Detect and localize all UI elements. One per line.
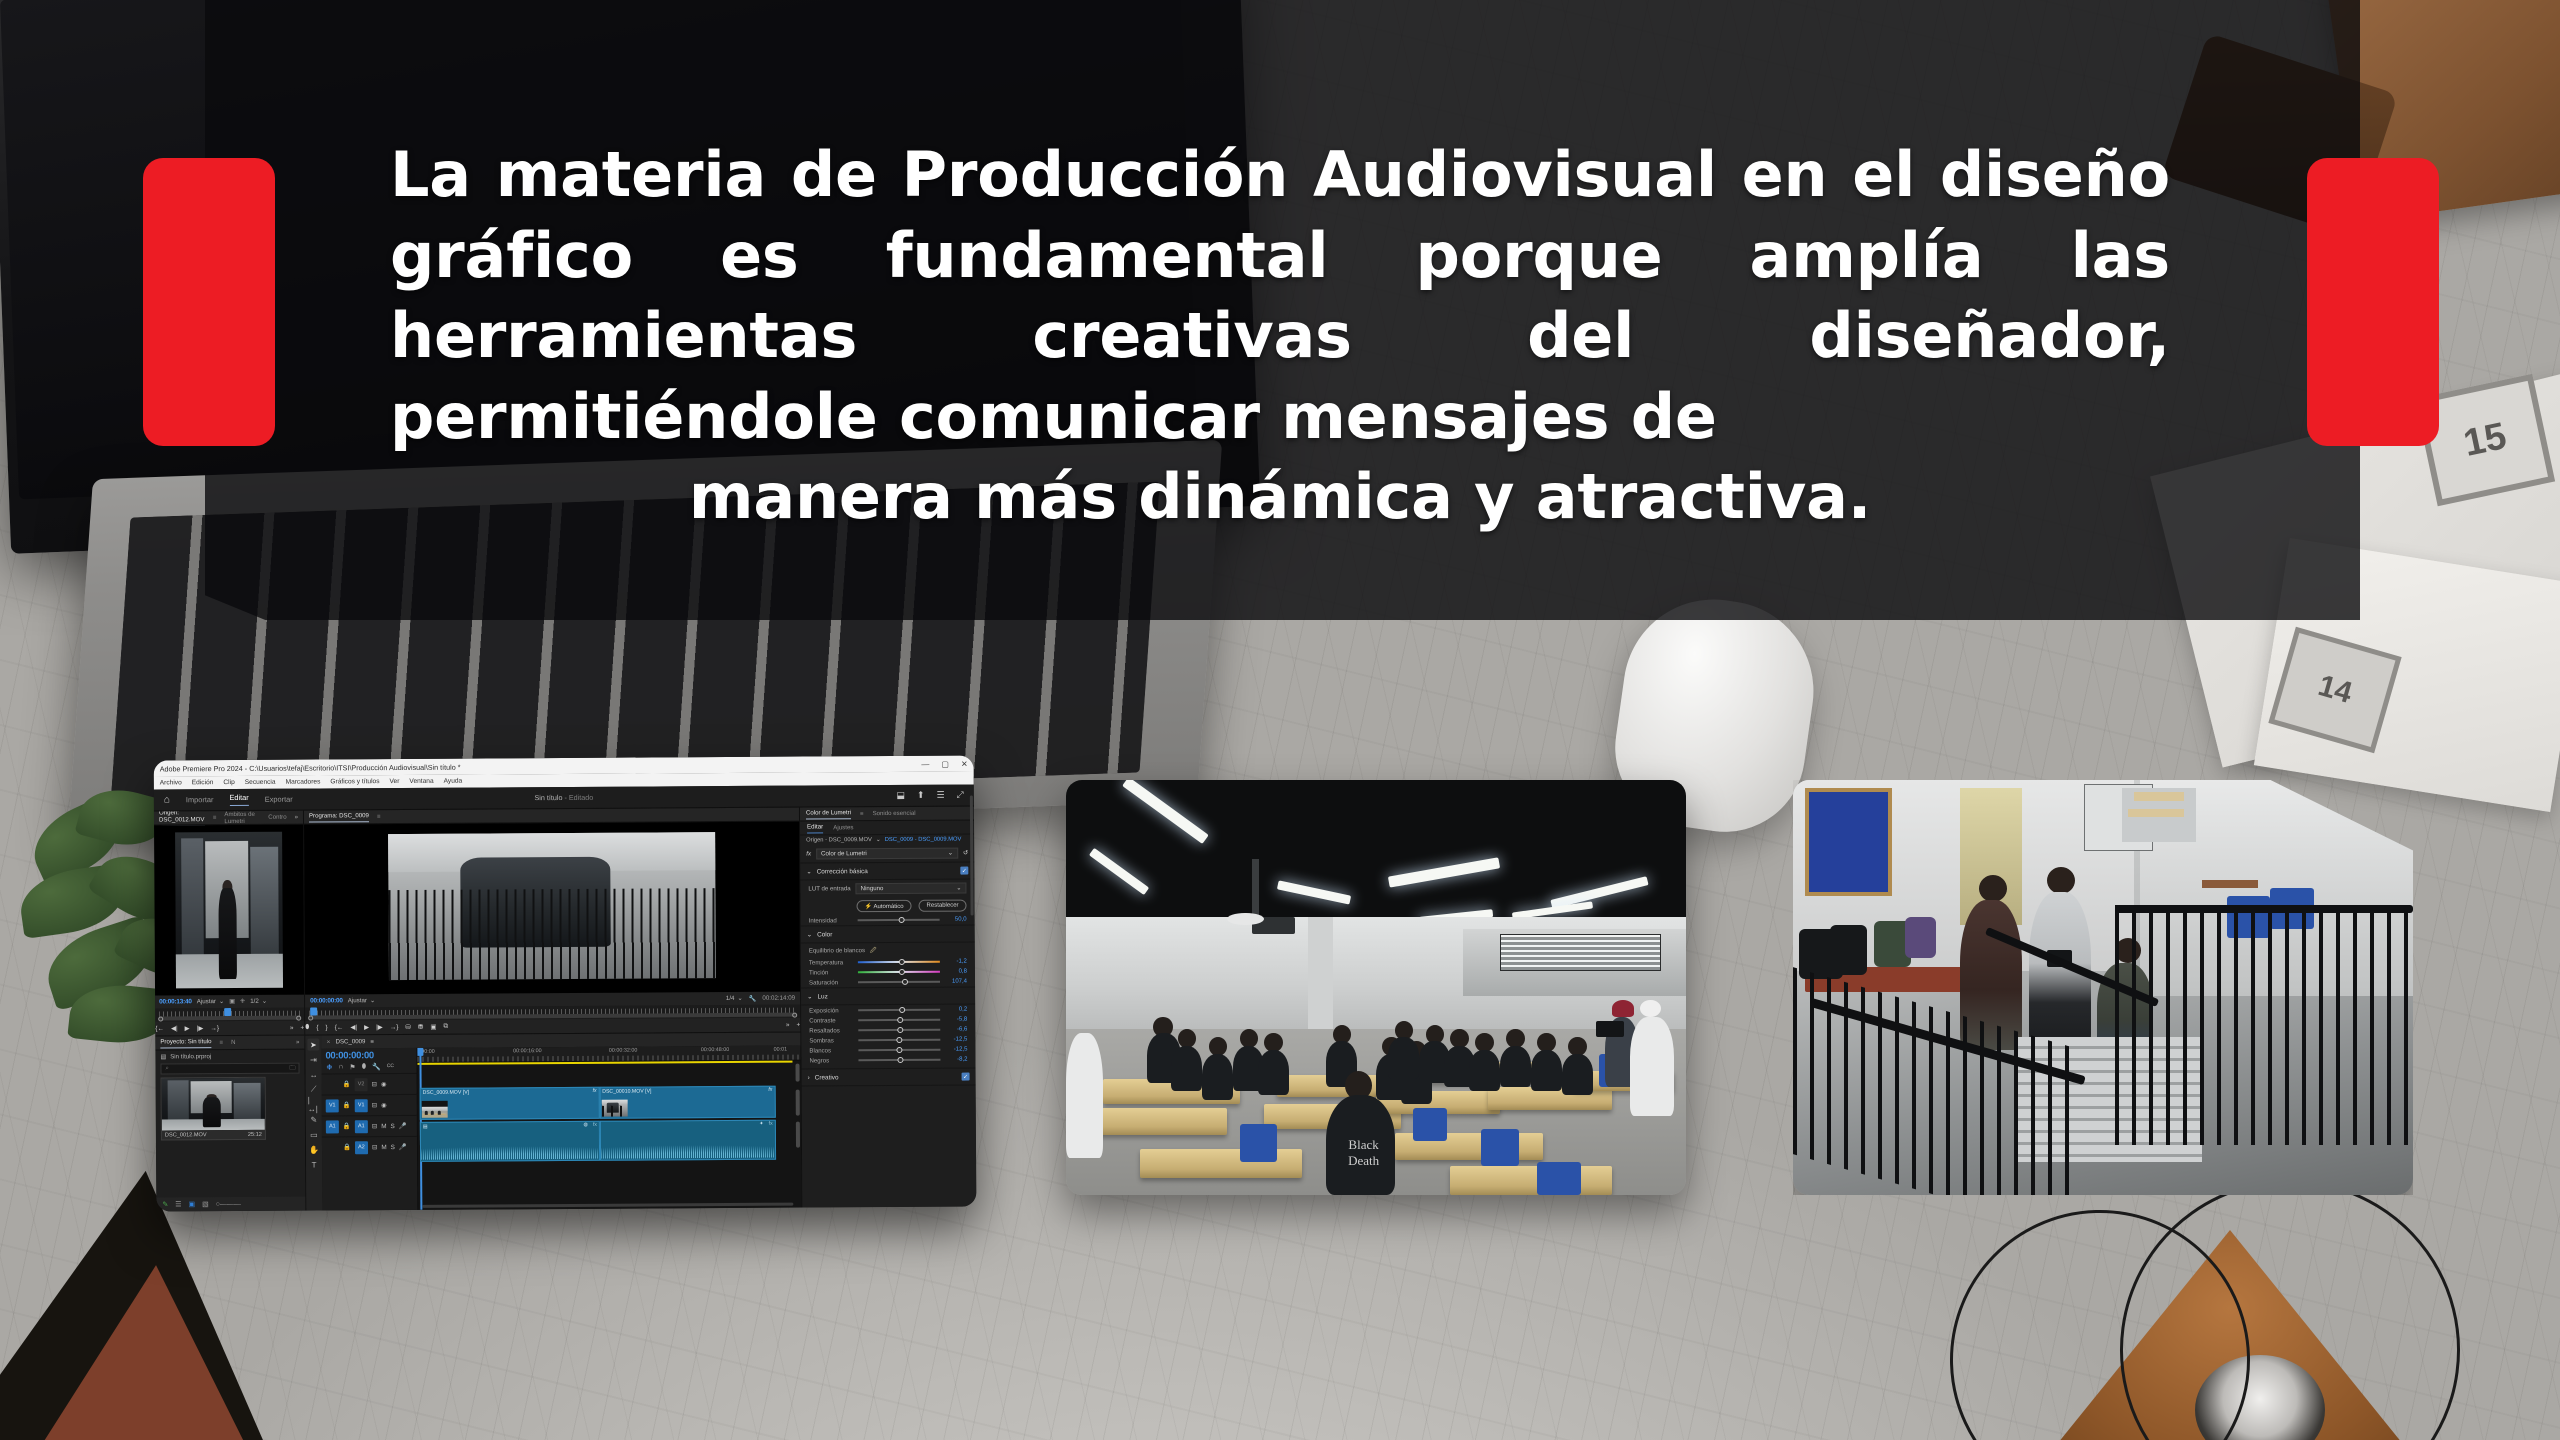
classroom-photo: Black Death [1066,780,1686,1195]
railing-top-right [2115,905,2413,913]
mic-icon[interactable]: 🎤 [399,1143,407,1151]
program-frame-image [388,832,716,980]
source-transport-overflow-icon[interactable]: » [290,1024,294,1031]
step-forward-icon[interactable]: |▶ [376,1023,383,1031]
add-marker-icon[interactable]: ⬮ [362,1063,366,1071]
toggle-track-output-icon[interactable]: ⊟ [372,1101,377,1109]
settings-icon[interactable]: ☰ [937,790,945,801]
slider-value[interactable]: 107,4 [945,979,967,985]
lumetri-effect-row[interactable]: fx Color de Lumetri ⌄ ↺ [800,844,974,863]
slider-knob[interactable] [896,1047,902,1053]
chevron-down-icon[interactable]: ⌄ [876,837,881,843]
ruler-label: 00:01 [774,1047,788,1053]
audio-waveform [600,1135,774,1159]
clip-duration: 25:12 [248,1131,262,1137]
chevron-down-icon[interactable]: ⌄ [807,930,812,938]
subtab-editar[interactable]: Editar [807,823,823,833]
timeline-header-buttons[interactable]: ❉ ∩ ⚑ ⬮ 🔧 CC [321,1063,416,1074]
toggle-track-output-icon[interactable]: ⊟ [372,1122,377,1130]
slider-value[interactable]: -12,5 [945,1037,967,1043]
timeline-body: 00:00:00:00 ❉ ∩ ⚑ ⬮ 🔧 CC [321,1046,801,1211]
slider-track[interactable] [858,971,940,973]
program-zoom-knob-right[interactable] [792,1013,797,1018]
source-overflow-icon[interactable]: » [295,814,298,821]
program-resolution-select[interactable]: 1/4⌄ [726,995,743,1002]
program-timecode[interactable]: 00:00:00:00 [310,997,343,1004]
track-target-v1[interactable]: V1 [326,1099,339,1112]
track-header-a2[interactable]: A2 🔒 A2 ⊟ M S 🎤 [322,1136,417,1158]
column [1308,917,1333,1033]
slip-tool[interactable]: |↔| [308,1099,320,1111]
subtab-ajustes[interactable]: Ajustes [833,824,853,831]
person-white-shirt [1630,1017,1673,1117]
source-transport-bar[interactable]: {← ◀| ▶ |▶ →} » + [155,1021,304,1036]
reset-icon[interactable]: ↺ [963,850,968,857]
source-zoom-knob-right[interactable] [296,1016,301,1021]
fx-badge-icon: fx [593,1122,597,1128]
slider-track[interactable] [858,919,940,921]
step-forward-icon[interactable]: |▶ [197,1024,204,1032]
basic-correction-buttons[interactable]: ⚡ Automático Restablecer [800,896,974,915]
slider-label: Contraste [809,1017,853,1024]
slide-canvas: 15 14 La materia de Producción Audiovisu… [0,0,2560,1440]
projector-mount [1252,859,1259,921]
mic-icon[interactable]: 🎤 [399,1122,407,1130]
source-zoom-bar[interactable] [159,1016,300,1021]
source-panel-menu-icon[interactable]: ≡ [213,814,217,821]
slider-value[interactable]: 50,0 [945,917,967,923]
maximize-icon[interactable]: ▢ [941,759,949,768]
lock-icon[interactable]: 🔒 [343,1080,351,1088]
zoom-slider[interactable]: ○――― [216,1200,241,1207]
slider-knob[interactable] [899,1007,905,1013]
lock-icon[interactable]: 🔒 [343,1143,351,1151]
go-to-in-icon[interactable]: {← [335,1024,344,1031]
white-balance-row[interactable]: Equilibrio de blancos 🖉 [801,942,975,957]
import-icon[interactable]: ⬓ [896,790,905,801]
mark-out-bracket-icon[interactable]: } [326,1024,328,1031]
slider-value[interactable]: -8,2 [945,1057,967,1063]
audio-keyframe-icon: ✦ [759,1121,763,1127]
brown-triangle-decor [14,1258,286,1440]
timeline-close-icon[interactable]: ✕ [326,1039,330,1045]
slider-label: Exposición [809,1007,853,1014]
linked-selection-icon[interactable]: ∩ [338,1063,343,1071]
timeline-menu-icon[interactable]: ≡ [370,1038,374,1045]
fx-icon: fx [806,850,811,857]
section-enable-checkbox[interactable]: ✓ [960,867,968,875]
program-monitor-view[interactable] [304,822,800,995]
camera [1596,1021,1624,1038]
section-title: Corrección básica [817,868,868,875]
track-target-a1[interactable]: A1 [326,1120,339,1133]
track-name-a2[interactable]: A2 [355,1141,368,1154]
slider-track[interactable] [858,1059,940,1061]
chevron-right-icon[interactable]: › [808,1074,810,1081]
auto-button[interactable]: ⚡ Automático [857,900,912,912]
menu-item-marcadores[interactable]: Marcadores [286,778,321,785]
lut-select[interactable]: Ninguno ⌄ [856,883,967,895]
slider-value[interactable]: -1,2 [945,959,967,965]
notice-board [1805,788,1892,896]
source-timecode[interactable]: 00:00:13:40 [159,998,192,1005]
list-item[interactable]: DSC_0012.MOV 25:12 [161,1077,266,1141]
source-monitor-controls[interactable]: 00:00:13:40 Ajustar⌄ ▣ ⁜ 1/2⌄ [155,995,304,1009]
sequence-state: - Editado [564,793,593,802]
workspace-action-icons[interactable]: ⬓ ⬆ ☰ ⤢ [896,790,963,801]
project-file-name: Sin título.prproj [170,1053,211,1060]
extract-icon[interactable]: ⛃ [418,1023,424,1031]
icon-view-icon[interactable]: ▣ [188,1200,195,1208]
wand-icon: ⚡ [865,904,873,910]
timeline-clip-v1-b[interactable]: DSC_00010.MOV [V] fx [599,1086,775,1119]
slider-knob[interactable] [898,1017,904,1023]
slider-negros[interactable]: Negros -8,2 [801,1054,975,1065]
source-monitor-view[interactable] [154,825,304,996]
clip-thumbnail [162,1078,265,1131]
slider-track[interactable] [858,1009,940,1011]
white-balance-label: Equilibrio de blancos [809,947,865,954]
new-item-icon[interactable]: ✎ [162,1200,168,1208]
comparison-view-icon[interactable]: ⧉ [443,1023,448,1031]
audio-waveform [421,1136,599,1160]
step-back-icon[interactable]: ◀| [350,1023,357,1031]
section-correccion-basica[interactable]: ⌄ Corrección básica ✓ [800,862,974,880]
tab-origen[interactable]: Origen: DSC_0012.MOV [159,809,205,826]
window-blinds [1500,934,1661,971]
timeline-settings-icon[interactable]: 🔧 [372,1063,381,1071]
captions-icon[interactable]: CC [387,1063,394,1071]
tab-exportar[interactable]: Exportar [265,795,293,804]
tab-notas[interactable]: N [231,1039,235,1046]
slider-label: Negros [809,1057,853,1064]
project-panel-tabs[interactable]: Proyecto: Sin título ≡ N » [155,1036,304,1051]
rectangle-tool[interactable]: ▭ [308,1129,320,1141]
left-panel-group: Origen: DSC_0012.MOV ≡ Ámbitos de Lumetr… [154,811,306,1212]
export-frame-icon[interactable]: ▣ [430,1023,436,1031]
slider-label: Tinción [809,969,853,976]
mark-in-icon[interactable]: {← [155,1025,164,1032]
source-resolution-select[interactable]: 1/2⌄ [250,998,267,1005]
source-scrubber[interactable] [155,1008,304,1022]
slider-track[interactable] [858,1029,940,1031]
slider-label: Intensidad [809,917,853,924]
slider-value[interactable]: -5,8 [945,1017,967,1023]
lumetri-menu-icon[interactable]: ≡ [860,810,864,817]
export-icon[interactable]: ⬆ [917,790,925,801]
premiere-workspace: Origen: DSC_0012.MOV ≡ Ámbitos de Lumetr… [154,806,976,1211]
timeline-timecode[interactable]: 00:00:00:00 [321,1048,416,1064]
project-overflow-icon[interactable]: » [296,1039,299,1046]
toggle-track-output-icon[interactable]: ⊟ [372,1143,377,1151]
lumetri-panel-tabs[interactable]: Color de Lumetri ≡ Sonido esencial [800,806,974,821]
source-button-editor-icon[interactable]: + [300,1024,304,1031]
slider-label: Sombras [809,1037,853,1044]
tab-color-lumetri[interactable]: Color de Lumetri [806,809,851,819]
lock-icon[interactable]: 🔒 [343,1101,351,1109]
project-items-grid[interactable]: DSC_0012.MOV 25:12 [156,1077,306,1198]
safe-margins-icon[interactable]: ▣ [229,998,235,1005]
timeline-toolbox[interactable]: ➤⇥↔⟋|↔|✎▭✋T [305,1035,322,1210]
menu-item-gr-ficos-y-t-tulos[interactable]: Gráficos y títulos [330,778,379,785]
tab-sonido-esencial[interactable]: Sonido esencial [873,810,916,817]
source-frame-image [175,832,283,989]
go-to-out-icon[interactable]: →} [390,1024,399,1031]
track-name-v2[interactable]: V2 [355,1078,368,1091]
slider-value[interactable]: 0,2 [945,1007,967,1013]
fx-badge-icon: fx [593,1088,597,1094]
eye-icon[interactable]: ◉ [381,1080,387,1088]
lumetri-effect-select[interactable]: Color de Lumetri ⌄ [816,848,958,860]
tab-programa[interactable]: Programa: DSC_0009 [309,812,369,822]
program-right-controls[interactable]: 1/4⌄ 🔧 00:02:14:09 [726,994,795,1002]
clip-label: DSC_0009.MOV [V] [421,1088,599,1097]
accent-bar-right [2307,158,2439,446]
track-select-forward-tool[interactable]: ⇥ [307,1054,319,1066]
slider-knob[interactable] [899,959,905,965]
chevron-down-icon: ⌄ [370,997,375,1004]
chevron-down-icon[interactable]: ⌄ [807,992,812,1000]
tab-sequence[interactable]: DSC_0009 [336,1038,366,1045]
timeline-panel: ➤⇥↔⟋|↔|✎▭✋T ✕ DSC_0009 ≡ 00:00:00:00 ❉ [305,1032,801,1211]
fullscreen-icon[interactable]: ⤢ [957,790,964,801]
settings-dots-icon[interactable]: ⁜ [240,998,245,1005]
window-controls[interactable]: — ▢ ✕ [921,756,967,772]
slider-label: Resaltados [809,1027,853,1034]
pen-tool[interactable]: ✎ [308,1114,320,1126]
snap-icon[interactable]: ❉ [326,1063,332,1071]
toggle-track-output-icon[interactable]: ⊟ [372,1080,377,1088]
lumetri-panel: Color de Lumetri ≡ Sonido esencial Edita… [800,806,976,1207]
project-footer-toolbar[interactable]: ✎ ☰ ▣ ▧ ○――― [156,1197,305,1212]
hand-tool[interactable]: ✋ [308,1143,320,1155]
timeline-vertical-scrollbar[interactable] [795,1064,799,1082]
menu-item-ventana[interactable]: Ventana [409,778,433,785]
lut-row[interactable]: LUT de entrada Ninguno ⌄ [800,879,974,897]
slider-value[interactable]: -6,6 [945,1027,967,1033]
chevron-down-icon: ⌄ [737,995,742,1002]
backpack-2 [1830,925,1867,975]
project-file-icon: ▤ [160,1053,166,1060]
project-file-row[interactable]: ▤ Sin título.prproj [155,1050,304,1064]
slider-knob[interactable] [899,917,905,923]
railing-right [2115,905,2413,1146]
stairwell-photo [1793,780,2413,1195]
program-zoom-knob-left[interactable] [308,1016,313,1021]
chevron-down-icon[interactable]: ⌄ [956,885,961,892]
source-fit-select[interactable]: Ajustar⌄ [197,998,224,1005]
add-marker-icon[interactable]: ⬮ [305,1024,309,1032]
track-header-v2[interactable]: V2 🔒 V2 ⊟ ◉ [322,1073,417,1095]
fx-badge-icon: fx [769,1121,773,1127]
play-icon[interactable]: ▶ [364,1023,369,1031]
clip-label: DSC_00010.MOV [V] [600,1087,774,1096]
slider-label: Blancos [809,1047,853,1054]
source-panel-tabs[interactable]: Origen: DSC_0012.MOV ≡ Ámbitos de Lumetr… [154,811,303,826]
premiere-pro-window[interactable]: Adobe Premiere Pro 2024 - C:\Usuarios\te… [154,755,977,1211]
program-menu-icon[interactable]: ≡ [377,813,381,820]
solo-icon[interactable]: S [391,1144,395,1151]
slider-knob[interactable] [897,1057,903,1063]
backpack-4 [1905,917,1936,959]
new-bin-icon[interactable]: 🗀 [289,1063,295,1073]
clip-meta: DSC_0012.MOV 25:12 [162,1130,265,1140]
timeline-main: ✕ DSC_0009 ≡ 00:00:00:00 ❉ ∩ ⚑ [321,1033,801,1211]
program-playhead[interactable] [310,1008,317,1016]
timeline-clip-a1-a[interactable]: ▤ ◍ fx [420,1121,600,1162]
settings-wrench-icon[interactable]: 🔧 [749,994,757,1002]
ruler-label: 00:00:16:00 [513,1048,542,1054]
tab-editar[interactable]: Editar [229,793,248,806]
menu-item-clip[interactable]: Clip [223,779,234,786]
track-name-v1[interactable]: V1 [355,1099,368,1112]
reset-button[interactable]: Restablecer [918,900,966,912]
chevron-down-icon: ⌄ [219,998,224,1005]
far-table [2202,880,2258,888]
fx-badge-icon: fx [768,1087,772,1093]
menu-item-ver[interactable]: Ver [389,778,399,785]
timeline-clip-a1-b[interactable]: ✦ fx [599,1120,775,1161]
slider-track[interactable] [858,1049,940,1051]
eyedropper-icon[interactable]: 🖉 [870,945,877,956]
slider-value[interactable]: 0,8 [945,969,967,975]
slider-track[interactable] [858,981,940,983]
section-title: Luz [817,993,827,1000]
slider-label: Saturación [809,979,853,986]
menu-item-ayuda[interactable]: Ayuda [444,778,463,785]
minimize-icon[interactable]: — [921,759,929,768]
section-color[interactable]: ⌄ Color [801,924,975,943]
project-search-field[interactable]: ⌕ 🗀 [160,1063,299,1075]
step-back-icon[interactable]: ◀| [171,1024,178,1032]
lumetri-source-label: Origen - DSC_0009.MOV [806,837,872,843]
audio-keyframe-icon: ◍ [583,1122,587,1128]
person-left-edge [1066,1033,1103,1158]
sequence-title: Sin título - Editado [534,793,593,802]
mute-icon[interactable]: M [381,1123,386,1130]
mark-out-icon[interactable]: →} [210,1025,219,1032]
eye-icon[interactable]: ◉ [381,1101,387,1109]
section-title: Color [817,931,832,938]
lumetri-subtabs[interactable]: Editar Ajustes [800,820,974,834]
program-fit-select[interactable]: Ajustar⌄ [348,997,375,1004]
section-enable-checkbox[interactable]: ✓ [962,1073,970,1081]
list-view-icon[interactable]: ☰ [175,1200,181,1208]
menu-item-secuencia[interactable]: Secuencia [245,779,276,786]
track-header-v1[interactable]: V1 🔒 V1 ⊟ ◉ [322,1094,417,1116]
section-title: Creativo [815,1074,839,1081]
tab-proyecto[interactable]: Proyecto: Sin título [160,1038,211,1048]
track-headers: 00:00:00:00 ❉ ∩ ⚑ ⬮ 🔧 CC [321,1048,418,1211]
slider-track[interactable] [858,961,940,963]
menu-item-archivo[interactable]: Archivo [160,779,182,786]
sequence-name: Sin título [534,793,562,802]
freeform-view-icon[interactable]: ▧ [202,1200,209,1208]
clip-name: DSC_0012.MOV [165,1132,207,1138]
ruler-label: 00:00:32:00 [609,1048,638,1054]
shirt-print-text: Black Death [1339,1137,1389,1170]
slider-label: Temperatura [809,959,853,966]
window-title: Adobe Premiere Pro 2024 - C:\Usuarios\te… [160,762,461,773]
chevron-down-icon: ⌄ [262,998,267,1005]
section-luz[interactable]: ⌄ Luz [801,986,975,1005]
timeline-clip-v1-a[interactable]: DSC_0009.MOV [V] fx [420,1087,600,1120]
section-creativo[interactable]: › Creativo ✓ [802,1067,976,1086]
search-icon: ⌕ [165,1065,168,1072]
audio-clip-icon: ▤ [423,1124,428,1130]
source-zoom-knob-left[interactable] [158,1016,163,1021]
mark-in-bracket-icon[interactable]: { [316,1024,318,1031]
lock-icon[interactable]: 🔒 [343,1122,351,1130]
center-panel-group: Programa: DSC_0009 ≡ 00:00:00:00 Ajustar… [304,808,802,1211]
project-menu-icon[interactable]: ≡ [219,1039,223,1046]
marker-icon[interactable]: ⚑ [349,1063,355,1071]
home-icon[interactable]: ⌂ [164,794,170,805]
menu-item-edici-n[interactable]: Edición [192,779,214,786]
razor-tool[interactable]: ⟋ [308,1084,320,1096]
slider-knob[interactable] [902,979,908,985]
project-panel: Proyecto: Sin título ≡ N » ▤ Sin título.… [155,1035,305,1212]
page-title: La materia de Producción Audiovisual en … [390,135,2170,538]
slider-value[interactable]: -12,5 [945,1047,967,1053]
type-tool[interactable]: T [308,1158,320,1170]
program-transport-overflow-icon[interactable]: » [786,1021,790,1028]
source-playhead[interactable] [224,1008,231,1016]
ruler-label: 00:00:48:00 [701,1047,730,1053]
solo-icon[interactable]: S [391,1123,395,1130]
tab-controles[interactable]: Contro [268,814,286,821]
track-header-a1[interactable]: A1 🔒 A1 ⊟ M S 🎤 [322,1115,417,1137]
timeline-horizontal-scrollbar[interactable] [422,1203,793,1208]
timeline-tracks-area[interactable]: 00:0000:00:16:0000:00:32:0000:00:48:0000… [417,1046,801,1210]
slider-knob[interactable] [898,1027,904,1033]
lut-label: LUT de entrada [808,885,850,892]
slider-knob[interactable] [896,1037,902,1043]
selection-tool[interactable]: ➤ [307,1039,319,1051]
track-name-a1[interactable]: A1 [355,1120,368,1133]
lumetri-source-clip: DSC_0009 - DSC_0009.MOV [885,837,962,843]
slider-track[interactable] [858,1019,940,1021]
track-height-handle-v1[interactable] [796,1090,800,1116]
close-icon[interactable]: ✕ [961,759,968,768]
slider-knob[interactable] [899,969,905,975]
ripple-edit-tool[interactable]: ↔ [308,1069,320,1081]
chevron-down-icon[interactable]: ⌄ [948,850,953,857]
program-button-editor-icon[interactable]: + [796,1021,800,1028]
tab-importar[interactable]: Importar [186,795,214,804]
accent-bar-left [143,158,275,446]
tab-ambitos-lumetri[interactable]: Ámbitos de Lumetri [224,810,260,824]
slider-track[interactable] [858,1039,940,1041]
play-icon[interactable]: ▶ [185,1024,190,1032]
chevron-down-icon[interactable]: ⌄ [806,867,811,875]
lift-icon[interactable]: ⛁ [405,1023,411,1031]
mute-icon[interactable]: M [381,1144,386,1151]
program-duration: 00:02:14:09 [762,995,795,1002]
track-height-handle-a1[interactable] [796,1122,800,1148]
headline-line-4: manera más dinámica y atractiva. [390,457,2170,538]
